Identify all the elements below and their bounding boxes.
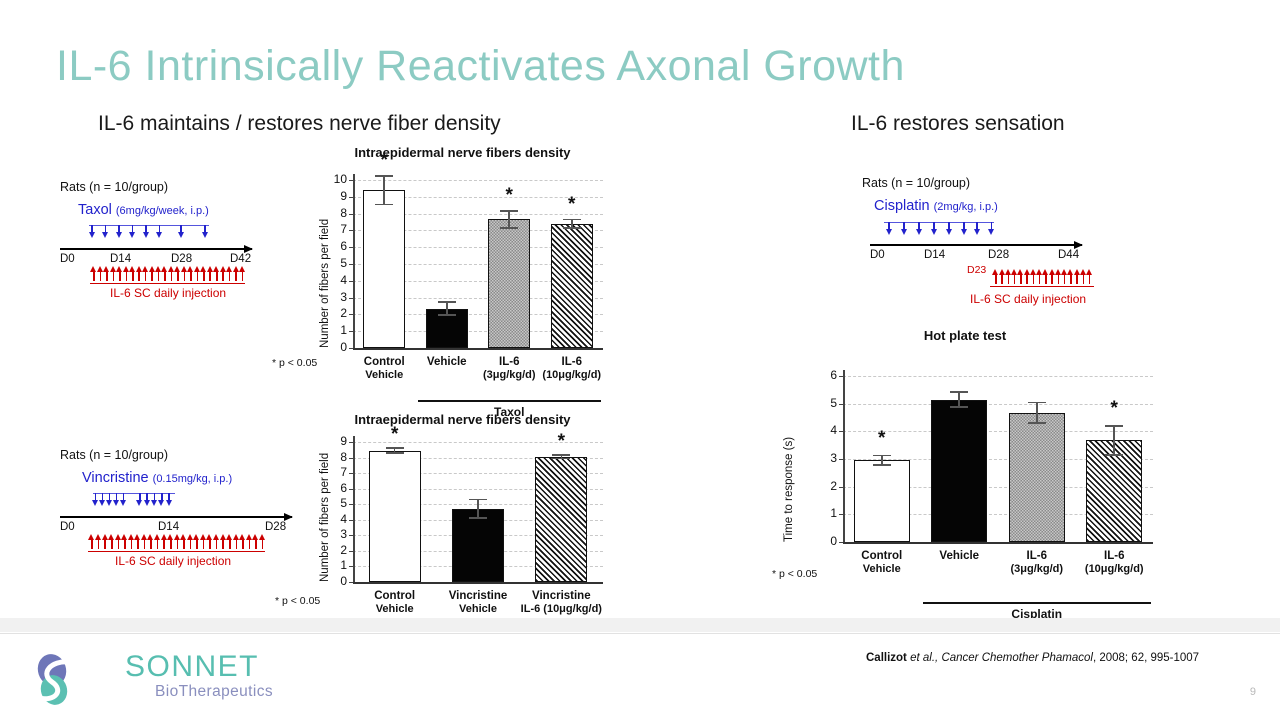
- x-axis-category: Vehicle: [915, 549, 1005, 563]
- timeline-tick-3: D42: [230, 253, 251, 265]
- red-underline: [990, 286, 1094, 287]
- drug-injection-arrows: [89, 225, 209, 241]
- y-axis-tick: 2: [329, 543, 347, 557]
- error-bar: [386, 447, 404, 453]
- x-axis-category: ControlVehicle: [837, 549, 927, 577]
- il6-injection-caption: IL-6 SC daily injection: [970, 292, 1086, 306]
- y-axis-tick: 4: [329, 512, 347, 526]
- pvalue-note-taxol: * p < 0.05: [272, 357, 317, 369]
- significance-star: *: [549, 432, 573, 451]
- pvalue-note-hotplate: * p < 0.05: [772, 568, 817, 580]
- bar: [452, 509, 504, 582]
- drug-injection-arrows: [93, 493, 175, 509]
- left-panel-heading: IL-6 maintains / restores nerve fiber de…: [98, 112, 501, 136]
- timeline-axis: [60, 248, 252, 250]
- drug-name: Cisplatin: [874, 198, 930, 214]
- error-bar: [469, 499, 487, 519]
- logo[interactable]: SONNET BioTherapeutics: [30, 652, 92, 713]
- timeline-drug-label: Vincristine (0.15mg/kg, i.p.): [82, 470, 232, 486]
- slide: IL-6 Intrinsically Reactivates Axonal Gr…: [0, 0, 1280, 720]
- y-axis-tick: 9: [329, 434, 347, 448]
- error-bar: [552, 454, 570, 459]
- x-axis-line: [353, 582, 603, 584]
- x-axis-category: VincristineVehicle: [430, 589, 525, 617]
- x-axis-category: IL-6(10μg/kg/d): [535, 355, 610, 383]
- y-axis-tick: 0: [329, 340, 347, 354]
- x-axis-line: [843, 542, 1153, 544]
- pvalue-note-vincristine: * p < 0.05: [275, 595, 320, 607]
- y-axis-tick: 1: [329, 558, 347, 572]
- significance-star: *: [383, 425, 407, 444]
- error-bar: [375, 175, 393, 205]
- y-axis-tick: 10: [329, 172, 347, 186]
- group-bracket: [923, 602, 1152, 604]
- timeline-rats-label: Rats (n = 10/group): [60, 180, 168, 194]
- citation-tail: , 2008; 62, 995-1007: [1093, 652, 1199, 664]
- footer-band: [0, 618, 1280, 632]
- citation: Callizot et al., Cancer Chemother Phamac…: [866, 652, 1199, 664]
- timeline-tick-1: D14: [110, 253, 131, 265]
- y-axis-tick: 3: [329, 290, 347, 304]
- drug-dose: (6mg/kg/week, i.p.): [116, 205, 209, 217]
- sonnet-mark-icon: [30, 652, 92, 708]
- y-axis-tick: 1: [329, 323, 347, 337]
- error-bar: [500, 210, 518, 228]
- timeline-drug-label: Cisplatin (2mg/kg, i.p.): [874, 198, 998, 214]
- error-bar: [1105, 425, 1123, 455]
- x-axis-category: ControlVehicle: [347, 589, 442, 617]
- bar: [363, 190, 405, 348]
- x-axis-category: IL-6(10μg/kg/d): [1070, 549, 1160, 577]
- il6-injection-caption: IL-6 SC daily injection: [115, 554, 231, 568]
- bar: [1086, 440, 1142, 542]
- il6-injection-caption: IL-6 SC daily injection: [110, 286, 226, 300]
- chart-title: Intraepidermal nerve fibers density: [305, 145, 620, 160]
- chart-title: Intraepidermal nerve fibers density: [305, 412, 620, 427]
- logo-name: SONNET: [125, 652, 273, 682]
- y-axis-tick: 9: [329, 189, 347, 203]
- il6-injection-arrows: [88, 536, 265, 552]
- il6-start-marker: D23: [967, 264, 986, 276]
- timeline-cisplatin: Rats (n = 10/group) Cisplatin (2mg/kg, i…: [862, 176, 1112, 311]
- y-axis-tick: 5: [819, 396, 837, 410]
- drug-dose: (0.15mg/kg, i.p.): [153, 473, 232, 485]
- timeline-tick-0: D0: [870, 249, 885, 261]
- il6-injection-arrows: [90, 268, 245, 284]
- bar: [551, 224, 593, 348]
- error-bar: [1028, 402, 1046, 424]
- timeline-rats-label: Rats (n = 10/group): [60, 448, 168, 462]
- chart-vincristine-nerve-density: Intraepidermal nerve fibers densityNumbe…: [305, 412, 620, 622]
- timeline-rats-label: Rats (n = 10/group): [862, 176, 970, 190]
- timeline-tick-3: D44: [1058, 249, 1079, 261]
- red-underline: [88, 551, 265, 552]
- chart-title: Hot plate test: [765, 328, 1165, 343]
- y-axis-tick: 6: [819, 368, 837, 382]
- drug-name: Vincristine: [82, 470, 149, 486]
- chart-taxol-nerve-density: Intraepidermal nerve fibers densityNumbe…: [305, 145, 620, 395]
- y-axis-tick: 5: [329, 256, 347, 270]
- x-axis-category: VincristineIL-6 (10μg/kg/d): [514, 589, 609, 617]
- timeline-tick-1: D14: [158, 521, 179, 533]
- error-bar: [950, 391, 968, 408]
- bar: [535, 457, 587, 582]
- timeline-tick-1: D14: [924, 249, 945, 261]
- x-axis-category: IL-6(3μg/kg/d): [992, 549, 1082, 577]
- timeline-tick-2: D28: [171, 253, 192, 265]
- significance-star: *: [560, 195, 584, 214]
- y-axis-label: Time to response (s): [783, 437, 795, 542]
- y-axis-tick: 8: [329, 450, 347, 464]
- citation-etal: et al.,: [910, 652, 938, 664]
- y-axis-tick: 6: [329, 239, 347, 253]
- y-axis-tick: 2: [819, 479, 837, 493]
- y-axis-tick: 3: [819, 451, 837, 465]
- y-axis-line: [353, 436, 355, 582]
- x-axis-line: [353, 348, 603, 350]
- timeline-axis: [870, 244, 1082, 246]
- significance-star: *: [497, 186, 521, 205]
- gridline: [843, 376, 1153, 377]
- timeline-axis: [60, 516, 292, 518]
- citation-journal: Cancer Chemother Phamacol: [941, 652, 1093, 664]
- bar: [369, 451, 421, 582]
- y-axis-tick: 8: [329, 206, 347, 220]
- il6-injection-arrows: [992, 271, 1092, 287]
- chart-hot-plate-test: Hot plate testTime to response (s)012345…: [765, 328, 1165, 618]
- logo-text: SONNET BioTherapeutics: [125, 652, 273, 700]
- y-axis-tick: 4: [819, 423, 837, 437]
- page-title: IL-6 Intrinsically Reactivates Axonal Gr…: [56, 42, 905, 91]
- y-axis-tick: 2: [329, 306, 347, 320]
- significance-star: *: [1102, 399, 1126, 418]
- y-axis-line: [353, 174, 355, 348]
- bar: [488, 219, 530, 348]
- bar: [854, 460, 910, 542]
- drug-injection-arrows: [884, 222, 994, 238]
- y-axis-tick: 0: [329, 574, 347, 588]
- y-axis-tick: 5: [329, 496, 347, 510]
- timeline-taxol: Rats (n = 10/group) Taxol (6mg/kg/week, …: [60, 180, 310, 300]
- timeline-tick-2: D28: [988, 249, 1009, 261]
- timeline-tick-2: D28: [265, 521, 286, 533]
- page-number: 9: [1250, 686, 1256, 698]
- significance-star: *: [870, 429, 894, 448]
- significance-star: *: [372, 151, 396, 170]
- timeline-tick-0: D0: [60, 521, 75, 533]
- y-axis-tick: 1: [819, 506, 837, 520]
- right-panel-heading: IL-6 restores sensation: [851, 112, 1065, 136]
- timeline-vincristine: Rats (n = 10/group) Vincristine (0.15mg/…: [60, 448, 310, 573]
- group-bracket: [418, 400, 602, 402]
- error-bar: [563, 219, 581, 229]
- bar: [931, 400, 987, 542]
- error-bar: [438, 301, 456, 316]
- red-underline: [90, 283, 245, 284]
- footer-divider: [0, 633, 1280, 634]
- drug-dose: (2mg/kg, i.p.): [934, 201, 998, 213]
- y-axis-line: [843, 370, 845, 542]
- timeline-tick-0: D0: [60, 253, 75, 265]
- timeline-drug-label: Taxol (6mg/kg/week, i.p.): [78, 202, 209, 218]
- bar: [1009, 413, 1065, 542]
- y-axis-tick: 7: [329, 222, 347, 236]
- y-axis-tick: 0: [819, 534, 837, 548]
- logo-subtitle: BioTherapeutics: [155, 684, 273, 700]
- y-axis-tick: 3: [329, 527, 347, 541]
- citation-author: Callizot: [866, 652, 907, 664]
- error-bar: [873, 455, 891, 466]
- y-axis-tick: 7: [329, 465, 347, 479]
- y-axis-tick: 6: [329, 481, 347, 495]
- drug-name: Taxol: [78, 202, 112, 218]
- y-axis-tick: 4: [329, 273, 347, 287]
